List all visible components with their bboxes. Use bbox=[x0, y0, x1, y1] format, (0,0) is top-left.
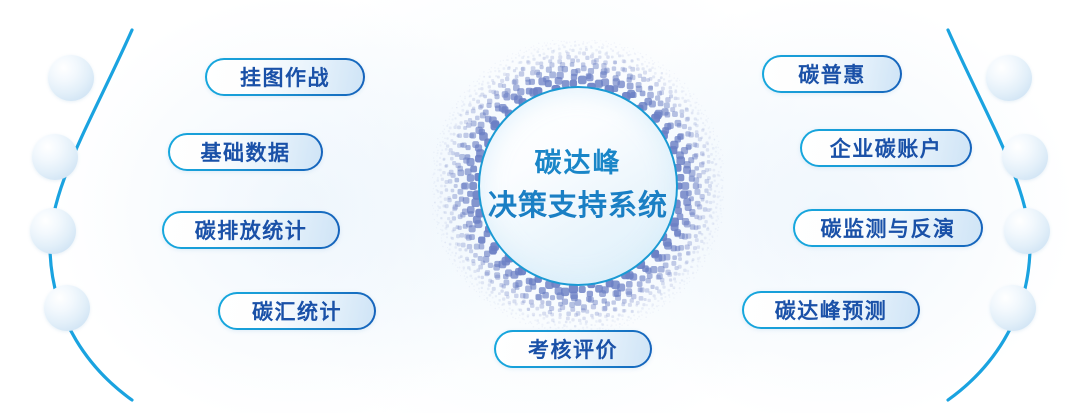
left-bead-3 bbox=[30, 208, 76, 254]
left-arc-line bbox=[20, 0, 160, 413]
pill-bottom-1[interactable]: 考核评价 bbox=[494, 330, 652, 368]
pill-right-2[interactable]: 企业碳账户 bbox=[800, 129, 972, 167]
pill-left-2[interactable]: 基础数据 bbox=[168, 133, 323, 171]
pill-label: 碳达峰预测 bbox=[755, 295, 908, 325]
pill-label: 基础数据 bbox=[181, 137, 311, 167]
right-decorative-arc bbox=[920, 0, 1060, 413]
center-title-line2: 决策支持系统 bbox=[488, 191, 668, 223]
pill-label: 考核评价 bbox=[508, 334, 638, 364]
left-bead-2 bbox=[32, 134, 78, 180]
pill-right-4[interactable]: 碳达峰预测 bbox=[742, 291, 920, 329]
right-bead-2 bbox=[1002, 134, 1048, 180]
left-bead-1 bbox=[48, 55, 94, 101]
pill-label: 碳排放统计 bbox=[175, 215, 328, 245]
right-bead-4 bbox=[990, 285, 1036, 331]
pill-left-3[interactable]: 碳排放统计 bbox=[162, 211, 340, 249]
central-emblem: 碳达峰 决策支持系统 bbox=[432, 40, 724, 332]
pill-label: 企业碳账户 bbox=[810, 133, 963, 163]
pill-label: 碳普惠 bbox=[778, 59, 886, 89]
right-bead-1 bbox=[986, 55, 1032, 101]
right-bead-3 bbox=[1004, 208, 1050, 254]
pill-label: 挂图作战 bbox=[220, 62, 350, 92]
left-bead-4 bbox=[44, 285, 90, 331]
pill-left-4[interactable]: 碳汇统计 bbox=[218, 292, 376, 330]
pill-right-3[interactable]: 碳监测与反演 bbox=[793, 209, 983, 247]
pill-left-1[interactable]: 挂图作战 bbox=[205, 58, 365, 96]
left-decorative-arc bbox=[20, 0, 160, 413]
center-title-line1: 碳达峰 bbox=[535, 149, 622, 179]
pill-label: 碳汇统计 bbox=[232, 296, 362, 326]
right-arc-line bbox=[920, 0, 1060, 413]
infographic-canvas: 碳达峰 决策支持系统 挂图作战基础数据碳排放统计碳汇统计碳普惠企业碳账户碳监测与… bbox=[0, 0, 1080, 413]
core-circle: 碳达峰 决策支持系统 bbox=[478, 86, 678, 286]
pill-right-1[interactable]: 碳普惠 bbox=[762, 55, 902, 93]
pill-label: 碳监测与反演 bbox=[801, 213, 976, 243]
